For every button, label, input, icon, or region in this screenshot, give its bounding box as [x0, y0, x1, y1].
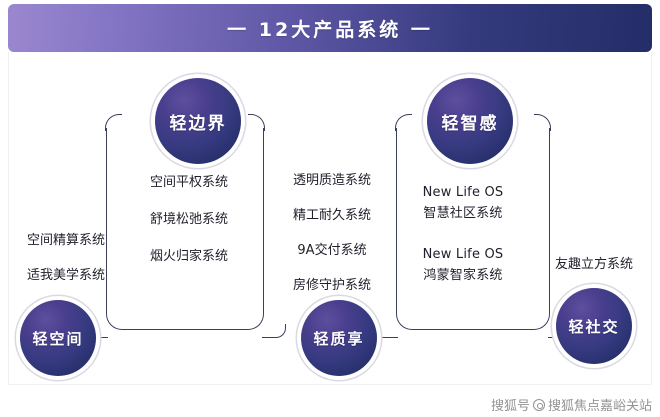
- node-light-quality[interactable]: 轻质享: [301, 300, 377, 376]
- node-light-quality-label: 轻质享: [313, 328, 364, 349]
- system-item: 精工耐久系统: [282, 203, 382, 228]
- connector-stub-quality-right: [374, 324, 398, 338]
- node-light-boundary[interactable]: 轻边界: [155, 78, 241, 164]
- system-item-line1: New Life OS: [404, 244, 522, 265]
- node-light-smart[interactable]: 轻智感: [427, 78, 513, 164]
- system-item-line2: 智慧社区系统: [404, 203, 522, 224]
- system-item: 空间平权系统: [140, 170, 238, 195]
- system-item-line1: New Life OS: [404, 182, 522, 203]
- infographic-canvas: 一 12大产品系统 一 轻边界 轻智感 轻空间 轻质享 轻社交 空间精算系统 适…: [0, 0, 660, 417]
- system-item-line2: 鸿蒙智家系统: [404, 265, 522, 286]
- at-icon: [533, 399, 545, 411]
- page-title: 一 12大产品系统 一: [227, 15, 433, 42]
- system-list-boundary: 空间平权系统 舒境松弛系统 烟火归家系统: [140, 170, 238, 269]
- node-light-boundary-label: 轻边界: [170, 109, 227, 134]
- footer-divider: [8, 384, 652, 385]
- system-item: New Life OS 智慧社区系统: [404, 180, 522, 226]
- watermark-prefix: 搜狐号: [491, 395, 530, 414]
- node-light-social-label: 轻社交: [568, 316, 619, 337]
- watermark-suffix: 搜狐焦点嘉峪关站: [548, 395, 652, 414]
- node-light-space-label: 轻空间: [32, 328, 83, 349]
- system-item: 烟火归家系统: [140, 244, 238, 269]
- system-list-social: 友趣立方系统: [538, 252, 650, 277]
- system-list-smart: New Life OS 智慧社区系统 New Life OS 鸿蒙智家系统: [404, 180, 522, 288]
- system-item: 友趣立方系统: [538, 252, 650, 277]
- watermark: 搜狐号 搜狐焦点嘉峪关站: [491, 395, 652, 414]
- system-item: 9A交付系统: [282, 238, 382, 263]
- system-item: New Life OS 鸿蒙智家系统: [404, 242, 522, 288]
- system-list-quality: 透明质造系统 精工耐久系统 9A交付系统 房修守护系统: [282, 168, 382, 298]
- system-item: 适我美学系统: [10, 263, 122, 288]
- node-light-space[interactable]: 轻空间: [20, 300, 96, 376]
- node-light-social[interactable]: 轻社交: [556, 288, 632, 364]
- system-item: 透明质造系统: [282, 168, 382, 193]
- system-item: 舒境松弛系统: [140, 207, 238, 232]
- system-list-space: 空间精算系统 适我美学系统: [10, 228, 122, 288]
- system-item: 空间精算系统: [10, 228, 122, 253]
- node-light-smart-label: 轻智感: [442, 109, 499, 134]
- header-banner: 一 12大产品系统 一: [8, 4, 652, 52]
- system-item: 房修守护系统: [282, 273, 382, 298]
